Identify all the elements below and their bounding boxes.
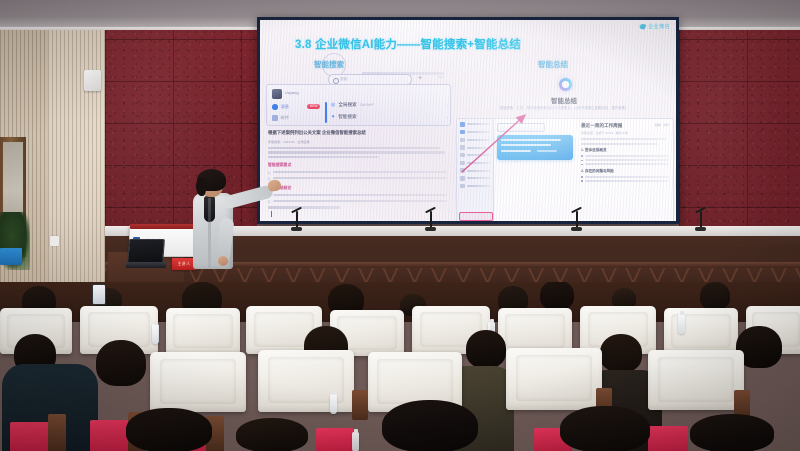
more-options-icon[interactable]: ⋯ xyxy=(438,74,444,83)
microphone-base xyxy=(425,227,436,231)
new-badge: NEW xyxy=(307,104,320,109)
summary-dropdown[interactable] xyxy=(497,123,545,132)
sparkle-icon: ✦ xyxy=(331,114,335,120)
article-bullet xyxy=(581,176,669,178)
bullet-line xyxy=(273,200,447,202)
bullet-line xyxy=(585,159,669,161)
option-global-search-label: 全局搜索 xyxy=(338,102,356,108)
sidebar-item-5[interactable] xyxy=(460,161,490,166)
bullet-dot-icon xyxy=(581,164,583,166)
sidebar-item-8[interactable] xyxy=(460,184,490,189)
sidebar-item-3[interactable] xyxy=(460,145,490,150)
article-meta: 智能总结 · 生成于 10:24 · 耗时 3 秒 xyxy=(581,131,669,135)
presenter-left-hand xyxy=(218,256,228,266)
sidebar-item-label xyxy=(467,170,490,172)
mail-icon xyxy=(272,115,278,121)
result-subheading-2: 智能总结结论 xyxy=(268,185,447,191)
copy-action[interactable]: 复制 xyxy=(655,123,661,127)
presenter xyxy=(186,172,281,282)
share-action[interactable]: 分享 xyxy=(663,123,669,127)
audience-head xyxy=(236,418,308,451)
presenter-pointing-hand xyxy=(267,179,282,192)
bullet-line xyxy=(585,155,669,157)
sidebar-item-label xyxy=(467,185,490,187)
list-icon xyxy=(460,184,465,189)
article-section-2: 2. 存在的问题与风险 xyxy=(581,169,669,174)
water-bottle xyxy=(678,314,685,334)
tab-messages[interactable]: 消息 xyxy=(272,104,289,110)
sidebar-item-1[interactable] xyxy=(460,130,490,135)
sidebar-item-label xyxy=(467,123,490,125)
laptop-keyboard xyxy=(126,262,166,268)
list-icon xyxy=(460,153,465,158)
audience-head xyxy=(700,282,730,310)
wifi-access-point-icon xyxy=(84,70,101,91)
article-bullet xyxy=(581,180,669,182)
audience-head xyxy=(540,282,574,310)
search-icon xyxy=(333,78,339,84)
bubble-line xyxy=(537,150,557,152)
tab-messages-label: 消息 xyxy=(281,104,289,110)
bullet-dot-icon xyxy=(581,155,583,157)
article-section-1: 1. 整体进展概览 xyxy=(581,148,669,153)
bullet-line xyxy=(273,194,447,196)
gooseneck-microphone xyxy=(576,211,578,228)
search-result-document: 根据下述案例列出公关文案 企业微信智能搜索总结 智能搜索 · 2024-03 ·… xyxy=(268,130,447,211)
text-line xyxy=(268,147,440,149)
add-button[interactable]: + xyxy=(418,74,422,83)
logo-text: 企业微信 xyxy=(648,23,670,30)
text-line xyxy=(268,156,379,158)
bullet-line xyxy=(585,163,669,165)
presenter-pointing-arm xyxy=(222,184,274,209)
gooseneck-microphone xyxy=(430,211,432,228)
water-bottle xyxy=(152,324,159,344)
option-smart-search-label: 智能搜索 xyxy=(338,114,356,120)
sidebar-item-label xyxy=(467,154,490,156)
summary-sidebar xyxy=(457,119,494,221)
text-line xyxy=(581,138,666,140)
article-actions: 复制 分享 xyxy=(655,123,669,127)
sidebar-item-label xyxy=(467,139,490,141)
sidebar-item-label xyxy=(467,131,490,133)
audience-head xyxy=(690,414,774,451)
tab-mail[interactable]: 邮件 xyxy=(272,115,289,121)
sidebar-item-6[interactable] xyxy=(460,168,490,173)
water-bottle xyxy=(352,432,359,451)
sidebar-item-label xyxy=(467,147,490,149)
option-global-search-hint: Ctrl+Alt+F xyxy=(360,103,374,107)
bullet-line xyxy=(273,177,447,179)
audience-seat xyxy=(150,352,246,412)
bullet-dot-icon xyxy=(581,176,583,178)
laptop[interactable] xyxy=(126,239,166,269)
article-bullet xyxy=(581,159,669,161)
section-heading-smart-summary: 智能总结 xyxy=(538,59,568,70)
audience-head xyxy=(96,340,146,386)
audience-seat xyxy=(258,350,354,412)
audience-head xyxy=(382,400,478,451)
water-bottle xyxy=(330,394,337,414)
avatar xyxy=(272,89,282,99)
audience-seat xyxy=(664,308,738,354)
chevron-right-icon: › xyxy=(447,115,448,120)
user-name: Usyang xyxy=(285,90,299,95)
microphone-base xyxy=(571,227,582,231)
lecture-hall-screenshot: 企业微信 3.8 企业微信AI能力——智能搜索+智能总结 智能搜索 智能总结 搜… xyxy=(0,0,800,451)
sidebar-item-label xyxy=(467,162,490,164)
search-panel: Usyang 消息 邮件 NEW ◎ 全局搜索 Ctrl+Alt+F xyxy=(266,84,451,126)
smart-summary-title: 智能总结 xyxy=(456,95,672,105)
wecom-logo-icon: 企业微信 xyxy=(639,23,670,30)
projected-slide: 企业微信 3.8 企业微信AI能力——智能搜索+智能总结 智能搜索 智能总结 搜… xyxy=(260,20,676,221)
result-title: 根据下述案例列出公关文案 企业微信智能搜索总结 xyxy=(268,130,447,136)
list-icon xyxy=(460,122,465,127)
article-bullet xyxy=(581,163,669,165)
result-subheading-1: 智能搜索要点 xyxy=(268,162,447,168)
audience-seat xyxy=(648,350,744,410)
sidebar-item-smart-summary-highlight[interactable] xyxy=(459,212,493,221)
result-bullet: 1. xyxy=(268,171,447,175)
tab-mail-label: 邮件 xyxy=(281,115,289,121)
globe-icon: ◎ xyxy=(331,102,335,108)
text-line xyxy=(581,143,658,145)
seat-armrest xyxy=(352,390,368,420)
audience-seat xyxy=(506,348,602,410)
result-bullet: 2. xyxy=(268,177,447,181)
list-icon xyxy=(460,130,465,135)
sidebar-item-0[interactable] xyxy=(460,122,490,127)
smart-search-mockup: 搜索 + ⋯ Usyang 消息 邮件 NEW xyxy=(266,72,449,220)
microphone-base xyxy=(695,227,706,231)
result-meta: 智能搜索 · 2024-03 · 全局结果 xyxy=(268,139,447,144)
audience-head xyxy=(466,330,506,368)
summary-chat-column xyxy=(497,123,575,160)
smartphone[interactable] xyxy=(92,284,106,305)
bullet-dot-icon xyxy=(581,180,583,182)
audience-head xyxy=(126,408,212,451)
sidebar-item-7[interactable] xyxy=(460,176,490,181)
bullet-line xyxy=(585,176,669,178)
option-smart-search[interactable]: ✦ 智能搜索 xyxy=(331,114,357,120)
blue-wall-sign xyxy=(0,248,22,265)
gooseneck-microphone xyxy=(700,211,702,228)
audience-head xyxy=(560,406,650,451)
list-icon xyxy=(460,176,465,181)
logo-mark-icon xyxy=(639,24,646,30)
shirt-placket xyxy=(208,198,211,268)
list-icon xyxy=(460,168,465,173)
seat-back-red xyxy=(316,428,354,451)
seat-back-red xyxy=(648,426,688,451)
slide-title: 3.8 企业微信AI能力——智能搜索+智能总结 xyxy=(295,36,521,52)
microphone-base xyxy=(291,227,302,231)
summary-article: 复制 分享 最近一周的工作周报 智能总结 · 生成于 10:24 · 耗时 3 … xyxy=(581,123,669,184)
list-icon xyxy=(460,145,465,150)
audience-head xyxy=(600,334,642,372)
result-bullet: 1. xyxy=(268,194,447,198)
presenter-hair-side xyxy=(196,178,206,196)
projection-screen-frame: 企业微信 3.8 企业微信AI能力——智能搜索+智能总结 智能搜索 智能总结 搜… xyxy=(257,17,679,224)
list-icon xyxy=(460,138,465,143)
article-bullet xyxy=(581,155,669,157)
bubble-line xyxy=(501,150,531,152)
bullet-line xyxy=(585,180,669,182)
seat-armrest xyxy=(48,414,66,451)
light-switch-icon xyxy=(50,236,59,246)
text-line xyxy=(268,151,445,153)
bubble-line xyxy=(501,144,551,146)
summary-app-panel: 复制 分享 最近一周的工作周报 智能总结 · 生成于 10:24 · 耗时 3 … xyxy=(456,118,674,221)
sidebar-item-label xyxy=(467,177,490,179)
list-icon xyxy=(460,161,465,166)
summary-chat-bubble[interactable] xyxy=(497,135,573,160)
option-global-search[interactable]: ◎ 全局搜索 Ctrl+Alt+F xyxy=(331,102,374,108)
selection-accent-bar xyxy=(325,102,327,123)
seat-back-red xyxy=(10,422,50,451)
result-bullet: 2. xyxy=(268,200,447,204)
sidebar-item-2[interactable] xyxy=(460,138,490,143)
audience-area xyxy=(0,282,800,451)
message-icon xyxy=(272,104,278,110)
smart-summary-subtitle: 快速提炼、汇总，帮你快速获取会议与沟通要点，让你不再错过重要信息，提升效率。 xyxy=(456,105,672,110)
smart-summary-logo-icon xyxy=(559,78,572,91)
bullet-dot-icon xyxy=(581,160,583,162)
chevron-right-icon: › xyxy=(447,103,448,108)
search-placeholder: 搜索 xyxy=(340,77,347,82)
gooseneck-microphone xyxy=(296,211,298,228)
bullet-line xyxy=(273,171,447,173)
bubble-line xyxy=(501,139,561,141)
audience-seat xyxy=(166,308,240,354)
sidebar-item-4[interactable] xyxy=(460,153,490,158)
smart-summary-mockup: 智能总结 快速提炼、汇总，帮你快速获取会议与沟通要点，让你不再错过重要信息，提升… xyxy=(456,72,672,221)
